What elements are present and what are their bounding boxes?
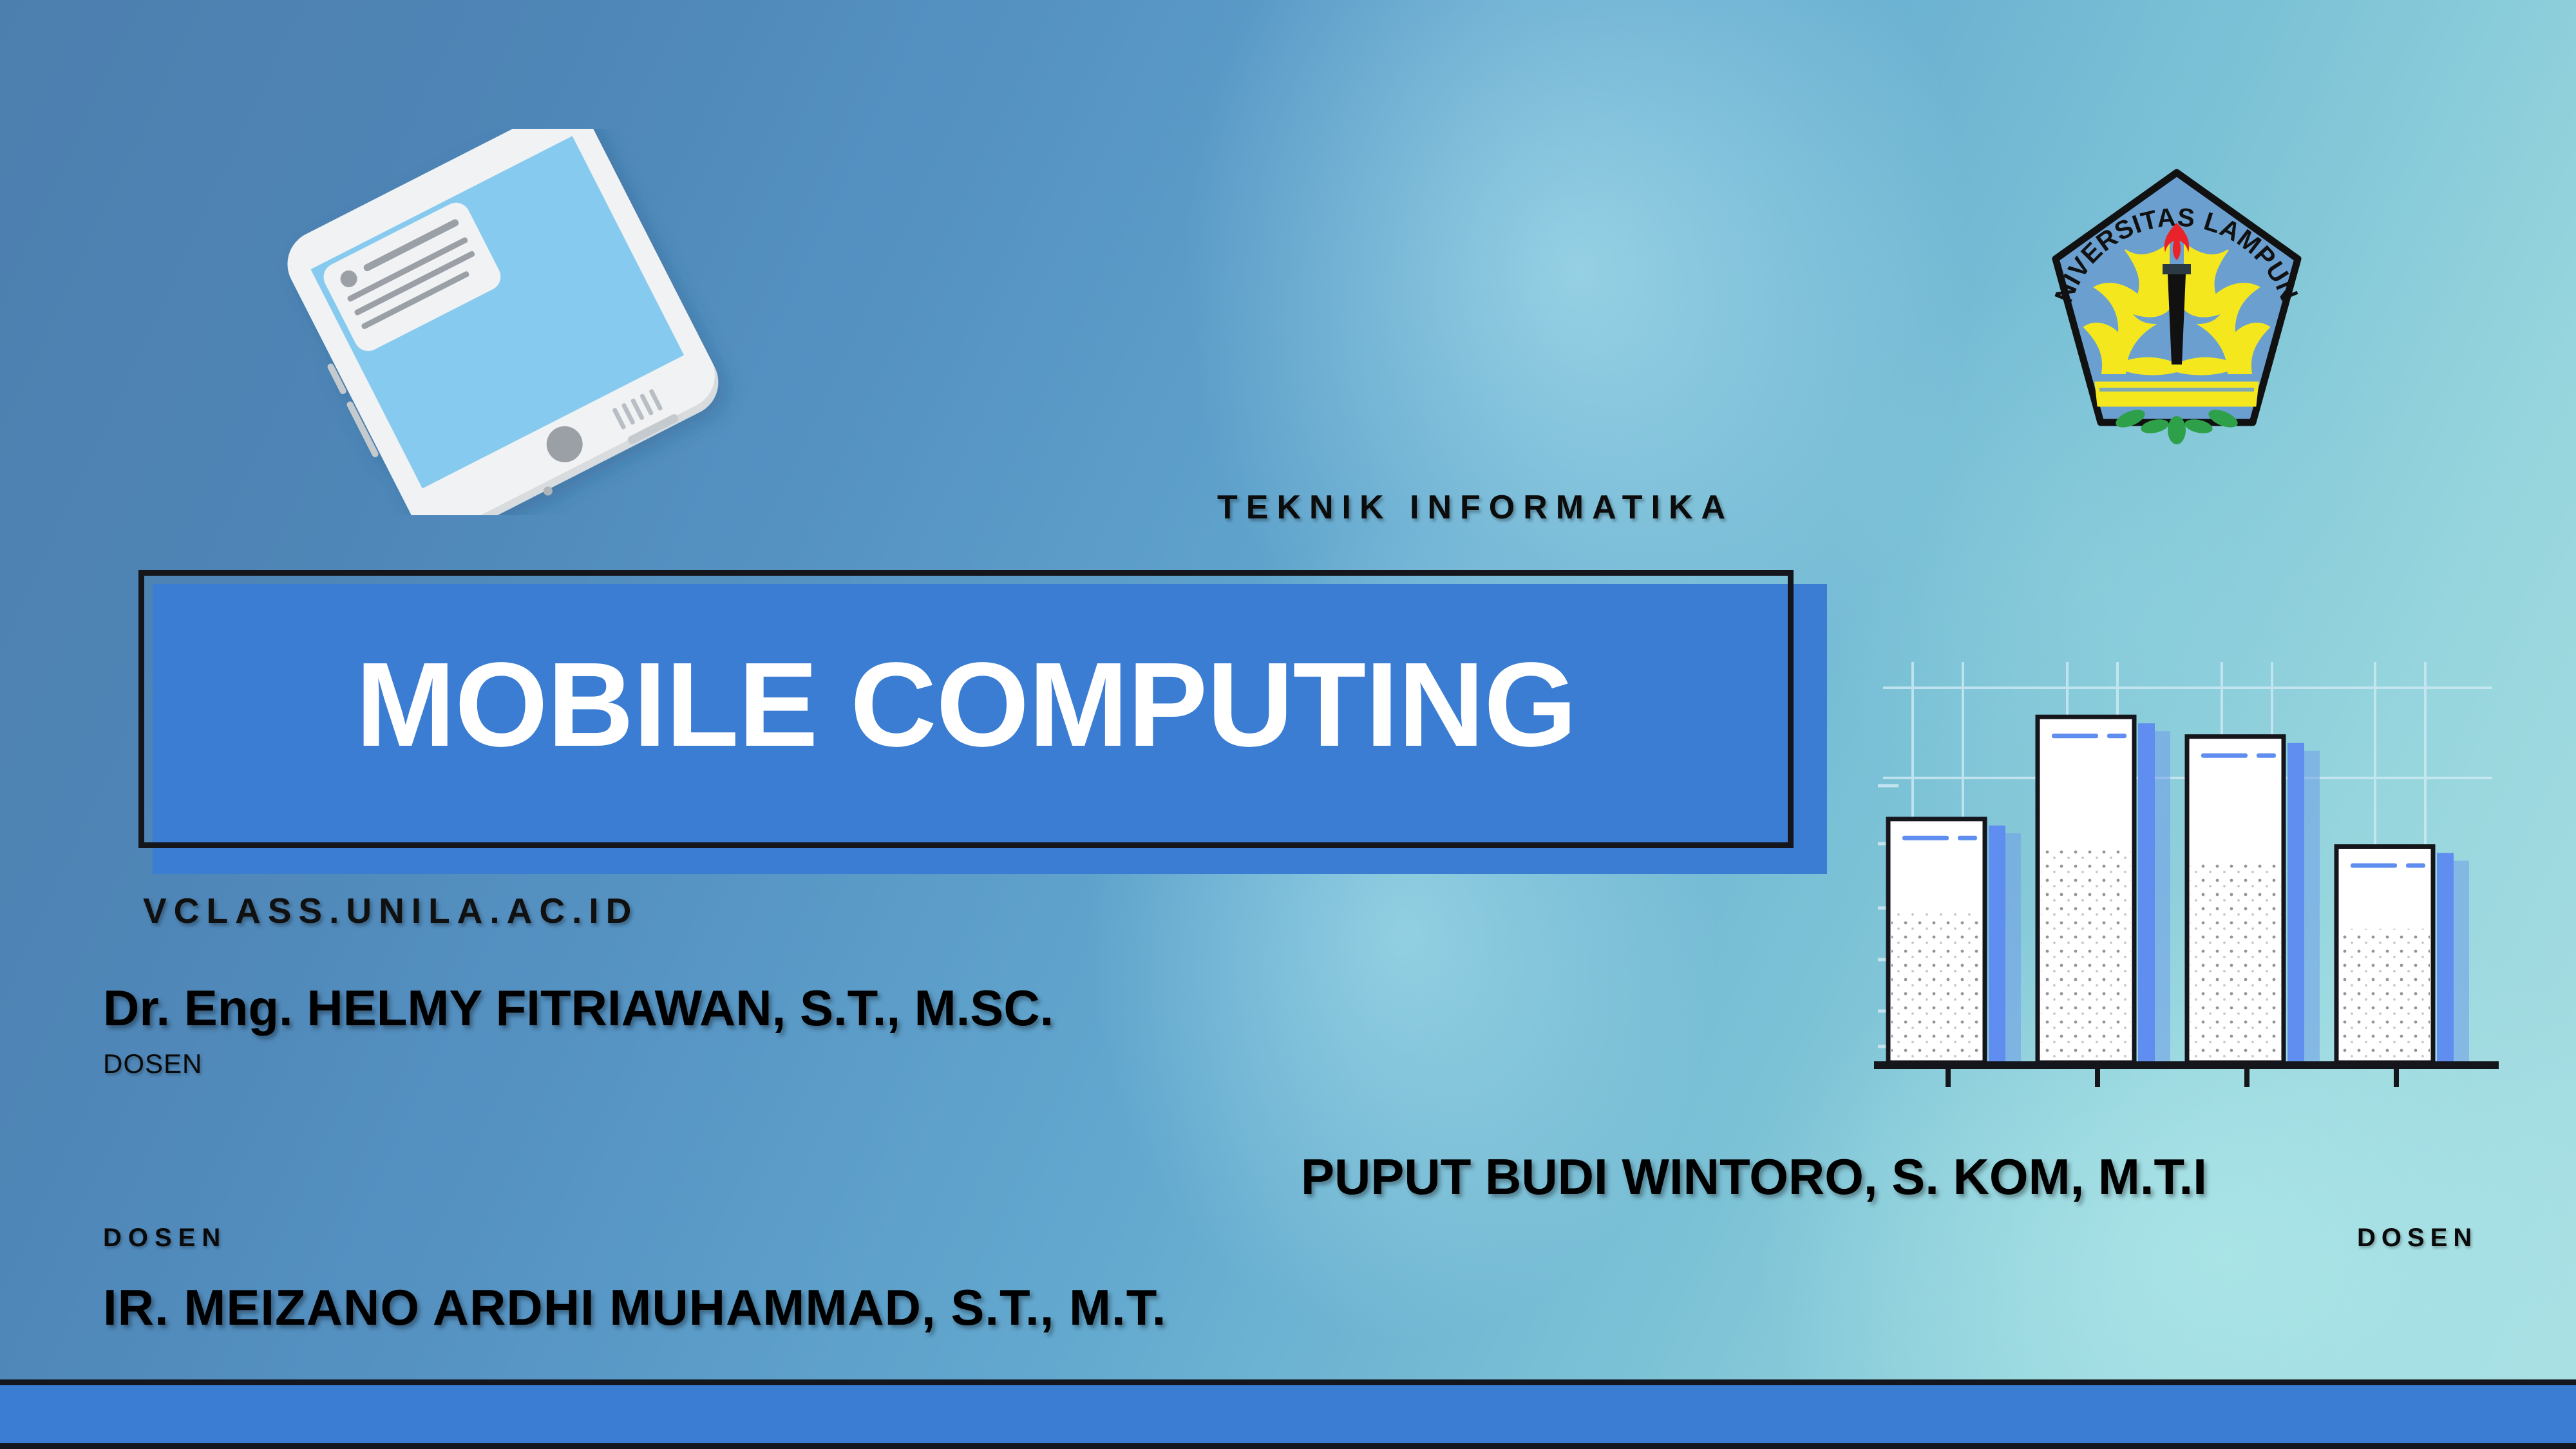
- lecturer-role-puput: DOSEN: [2357, 1224, 2477, 1253]
- vclass-url[interactable]: VCLASS.UNILA.AC.ID: [143, 890, 638, 931]
- presentation-slide: UNIVERSITAS LAMPUNG: [0, 0, 2576, 1449]
- lecturer-name-meizano: IR. MEIZANO ARDHI MUHAMMAD, S.T., M.T.: [103, 1278, 1166, 1337]
- program-kicker: TEKNIK INFORMATIKA: [1217, 488, 1734, 527]
- lecturer-role-meizano: DOSEN: [103, 1224, 227, 1253]
- smartphone-illustration: [213, 129, 792, 515]
- lecturer-role-helmy: DOSEN: [103, 1048, 202, 1079]
- chart-bar: [1888, 819, 2021, 1063]
- footer-bar: [0, 1379, 2576, 1449]
- course-title-block: MOBILE COMPUTING: [138, 570, 1813, 860]
- page-title: MOBILE COMPUTING: [138, 570, 1794, 848]
- lecturer-name-helmy: Dr. Eng. HELMY FITRIAWAN, S.T., M.SC.: [103, 979, 1054, 1037]
- chart-bar: [2038, 717, 2170, 1063]
- chart-bar: [2187, 737, 2320, 1063]
- bar-chart-illustration: [1874, 650, 2512, 1101]
- lecturer-name-puput: PUPUT BUDI WINTORO, S. KOM, M.T.I: [1301, 1148, 2207, 1206]
- unila-logo: UNIVERSITAS LAMPUNG: [2029, 161, 2325, 457]
- chart-bar: [2336, 847, 2469, 1063]
